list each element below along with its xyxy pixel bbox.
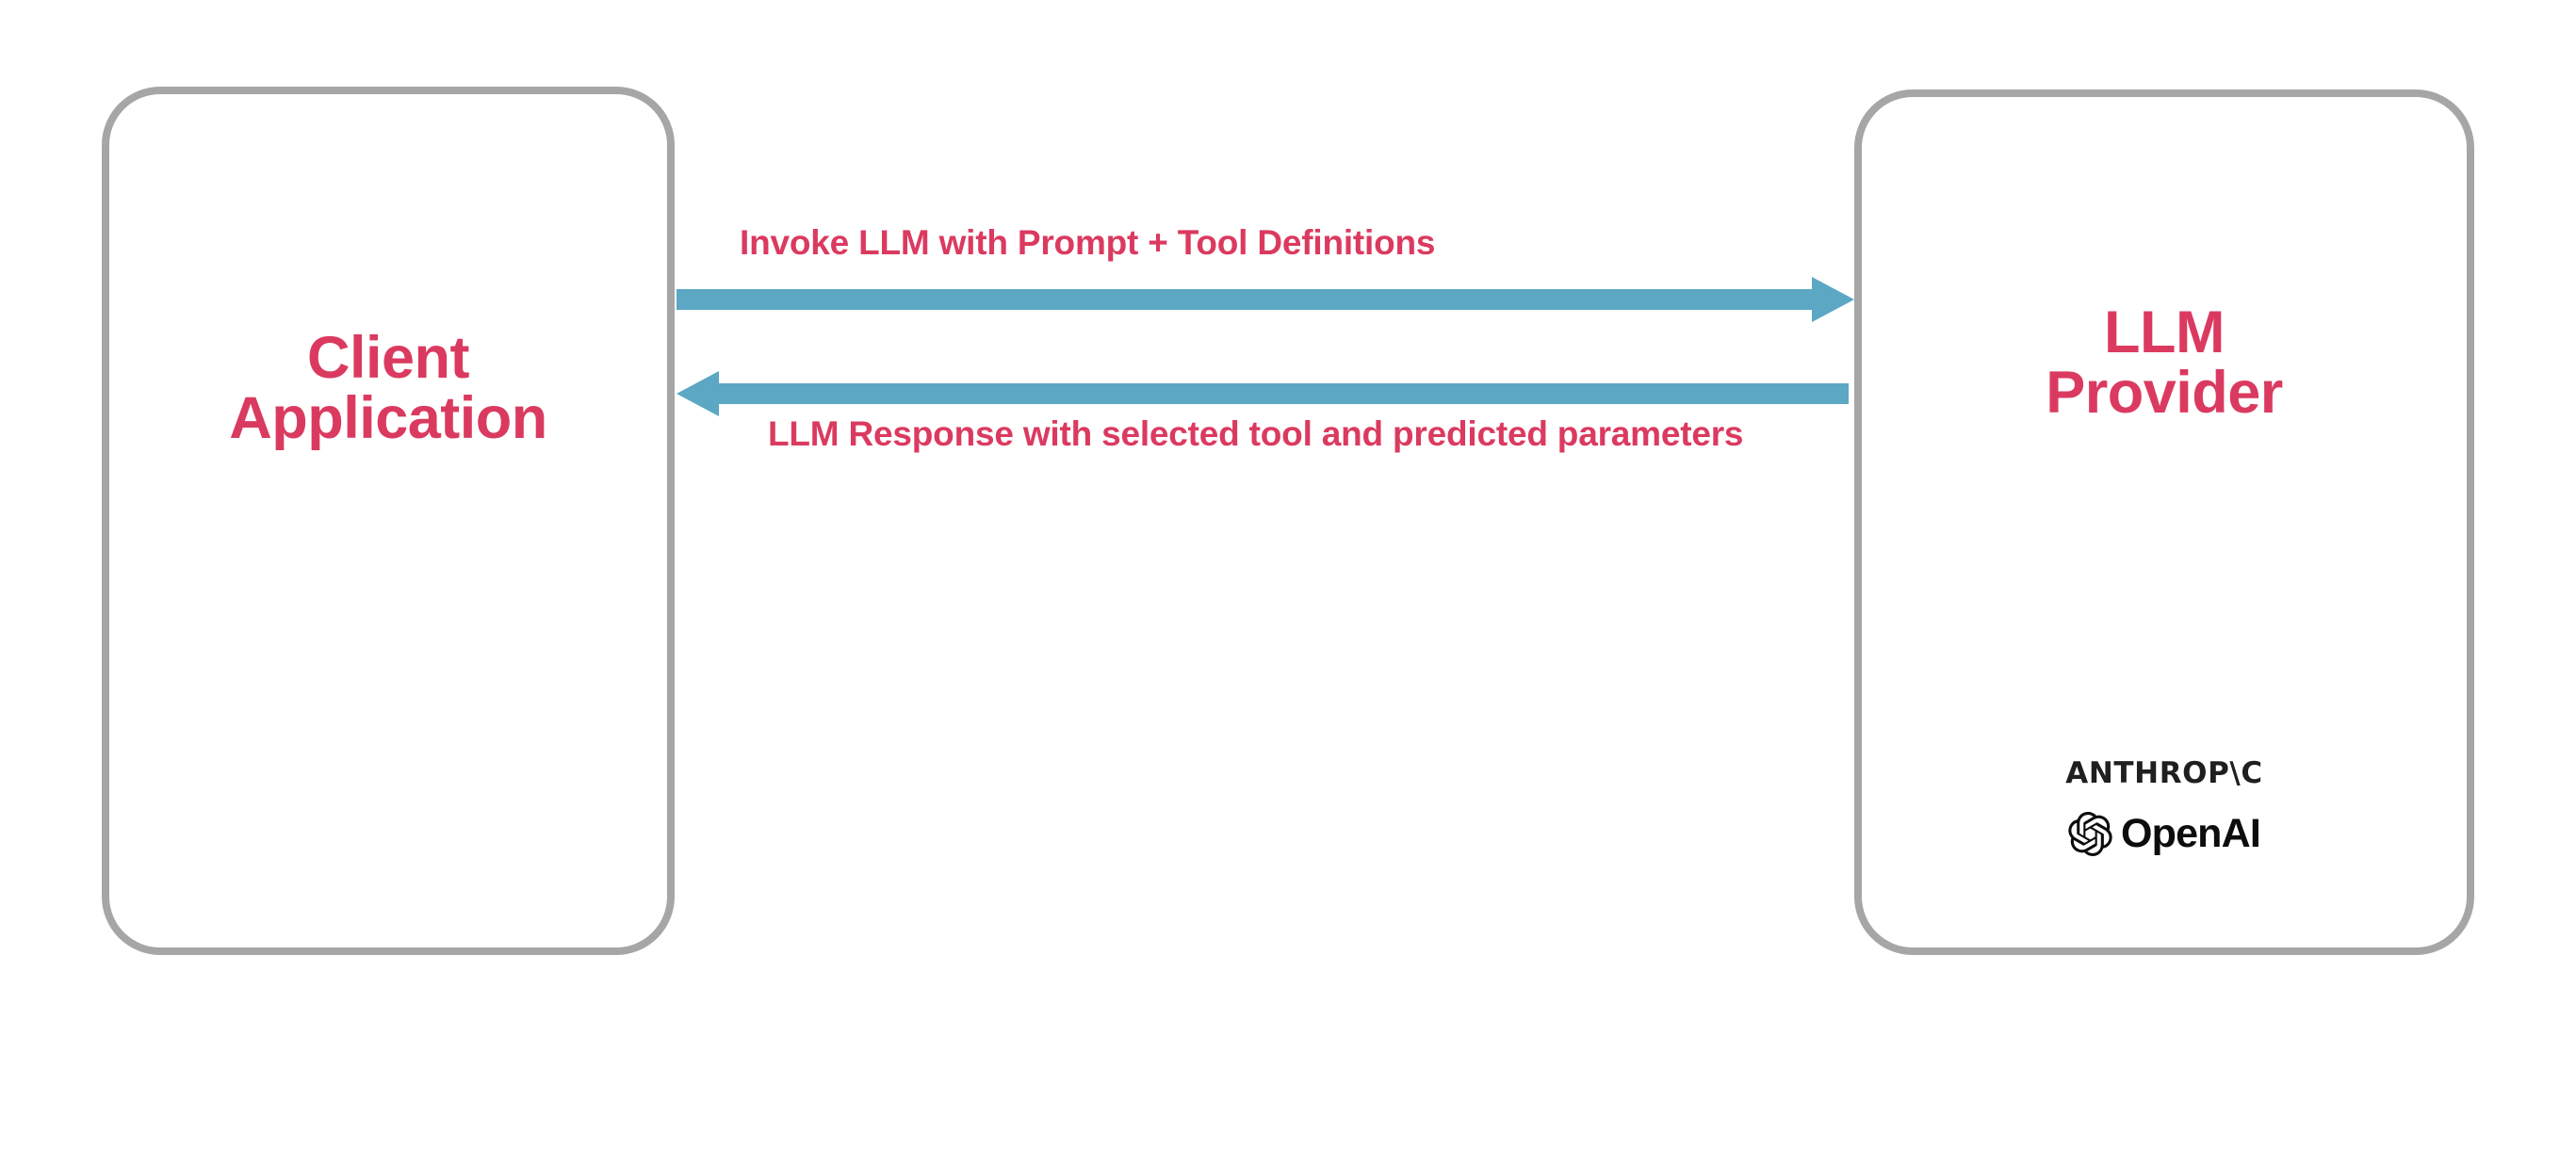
edge-label-response: LLM Response with selected tool and pred… <box>768 414 1743 454</box>
arrow-request <box>677 277 1854 322</box>
openai-wordmark: OpenAI <box>2121 811 2260 857</box>
anthropic-logo: ANTHROP\C <box>2065 756 2262 790</box>
node-client-application-title: Client Application <box>109 328 667 449</box>
node-client-application[interactable]: Client Application <box>102 87 675 955</box>
node-llm-provider-title: LLM Provider <box>1862 302 2467 424</box>
openai-logo: OpenAI <box>2068 811 2260 857</box>
provider-logo-stack: ANTHROP\C OpenAI <box>1862 756 2467 857</box>
arrow-response <box>677 371 1849 416</box>
openai-knot-icon <box>2068 812 2112 856</box>
node-llm-provider[interactable]: LLM Provider ANTHROP\C OpenAI <box>1854 89 2474 955</box>
edge-label-request: Invoke LLM with Prompt + Tool Definition… <box>740 223 1435 263</box>
diagram-canvas: Client Application LLM Provider ANTHROP\… <box>0 0 2576 1166</box>
